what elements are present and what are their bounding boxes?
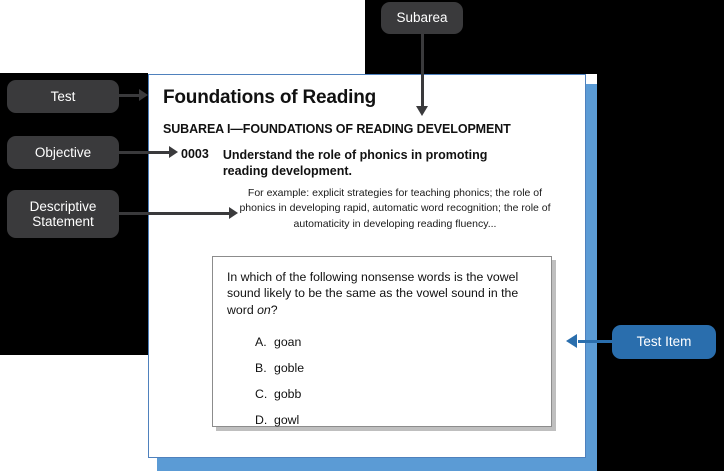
- subarea-heading: SUBAREA I—FOUNDATIONS OF READING DEVELOP…: [163, 122, 571, 136]
- callout-descriptive-statement[interactable]: Descriptive Statement: [7, 190, 119, 238]
- option-a-text: goan: [274, 335, 301, 349]
- callout-subarea[interactable]: Subarea: [381, 2, 463, 34]
- test-item-box: In which of the following nonsense words…: [212, 256, 552, 427]
- test-item-stem-part2: ?: [271, 303, 278, 317]
- arrow-down-icon: [416, 106, 428, 116]
- option-c[interactable]: C. gobb: [255, 387, 537, 401]
- descriptive-statement: For example: explicit strategies for tea…: [239, 186, 551, 232]
- option-a-letter: A.: [255, 335, 274, 349]
- callout-test-item[interactable]: Test Item: [612, 325, 716, 359]
- option-a[interactable]: A. goan: [255, 335, 537, 349]
- connector-test-item-line: [578, 340, 614, 343]
- connector-subarea-line: [421, 33, 424, 110]
- arrow-right-icon: [169, 146, 178, 158]
- objective-text: Understand the role of phonics in promot…: [223, 147, 513, 179]
- test-title: Foundations of Reading: [163, 87, 571, 109]
- objective-code: 0003: [181, 147, 223, 179]
- option-c-letter: C.: [255, 387, 274, 401]
- callout-test[interactable]: Test: [7, 80, 119, 113]
- diagram-canvas: Foundations of Reading SUBAREA I—FOUNDAT…: [0, 0, 724, 471]
- callout-descriptive-statement-line2: Statement: [30, 214, 97, 229]
- connector-descriptive-statement-line: [119, 212, 231, 215]
- option-d-letter: D.: [255, 413, 274, 427]
- arrow-right-icon: [139, 89, 148, 101]
- option-d[interactable]: D. gowl: [255, 413, 537, 427]
- arrow-right-icon: [229, 207, 238, 219]
- descriptive-statement-lead: For example:: [248, 187, 309, 199]
- callout-objective[interactable]: Objective: [7, 136, 119, 169]
- backdrop-band-right: [597, 0, 724, 471]
- option-b-letter: B.: [255, 361, 274, 375]
- option-d-text: gowl: [274, 413, 299, 427]
- arrow-left-icon: [566, 334, 577, 348]
- option-c-text: gobb: [274, 387, 301, 401]
- option-b-text: goble: [274, 361, 304, 375]
- option-b[interactable]: B. goble: [255, 361, 537, 375]
- test-item-stem: In which of the following nonsense words…: [227, 269, 537, 318]
- test-item-stem-italic-word: on: [257, 303, 271, 317]
- connector-test-line: [119, 94, 141, 97]
- connector-objective-line: [119, 151, 171, 154]
- test-item-options: A. goan B. goble C. gobb D. gowl: [255, 335, 537, 427]
- objective-row: 0003 Understand the role of phonics in p…: [181, 147, 571, 179]
- callout-descriptive-statement-line1: Descriptive: [30, 199, 97, 214]
